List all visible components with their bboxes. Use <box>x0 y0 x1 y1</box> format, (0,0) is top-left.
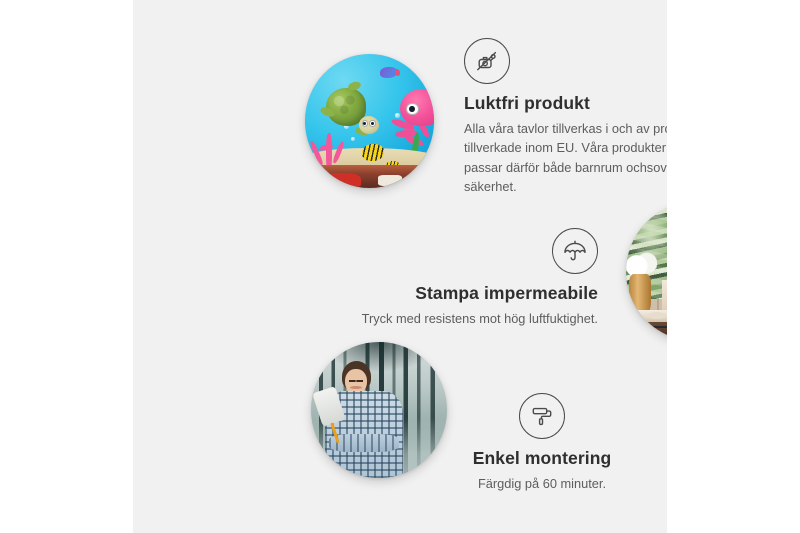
yellow-striped-fish-icon <box>362 144 384 161</box>
octopus-icon <box>390 89 434 151</box>
bathroom-scene-art <box>626 202 667 341</box>
bathroom-interior-photo <box>626 202 667 341</box>
feature-title: Stampa impermeabile <box>343 283 598 304</box>
feature-description: Alla våra tavlor tillverkas i och av pro… <box>464 119 667 197</box>
octopus-eye <box>406 103 418 116</box>
installer-forest-photo <box>311 342 447 478</box>
turtle-head <box>359 116 380 134</box>
coral-branch <box>332 141 346 164</box>
purple-fish-icon <box>380 67 397 78</box>
umbrella-icon <box>552 228 598 274</box>
turtle-eye <box>362 120 368 127</box>
forest-scene-art <box>311 342 447 478</box>
feature-waterproof-print: Stampa impermeabile Tryck med resistens … <box>343 228 598 328</box>
feature-title: Luktfri produkt <box>464 93 667 114</box>
wooden-vanity <box>634 322 667 341</box>
feature-title: Enkel montering <box>433 448 651 469</box>
feature-description: Tryck med resistens mot hög luftfuktighe… <box>343 309 598 328</box>
content-panel: Luktfri produkt Alla våra tavlor tillver… <box>133 0 667 533</box>
foreground-strip <box>305 165 434 188</box>
coral-branch <box>309 140 324 165</box>
woman-figure <box>322 361 406 478</box>
soap-dish <box>648 312 666 319</box>
underwater-scene-photo <box>305 54 434 188</box>
woman-crossed-arms <box>329 434 400 453</box>
no-fragrance-icon <box>464 38 510 84</box>
feature-description: Färgdig på 60 minuter. <box>433 474 651 493</box>
feature-easy-mounting: Enkel montering Färgdig på 60 minuter. <box>433 393 651 493</box>
underwater-scene-art <box>305 54 434 188</box>
paint-roller-icon <box>519 393 565 439</box>
octopus-head <box>400 89 434 126</box>
towel <box>662 280 667 311</box>
turtle-eye <box>369 120 375 127</box>
feature-odor-free: Luktfri produkt Alla våra tavlor tillver… <box>464 38 667 197</box>
screenshot-stage: Luktfri produkt Alla våra tavlor tillver… <box>0 0 800 533</box>
